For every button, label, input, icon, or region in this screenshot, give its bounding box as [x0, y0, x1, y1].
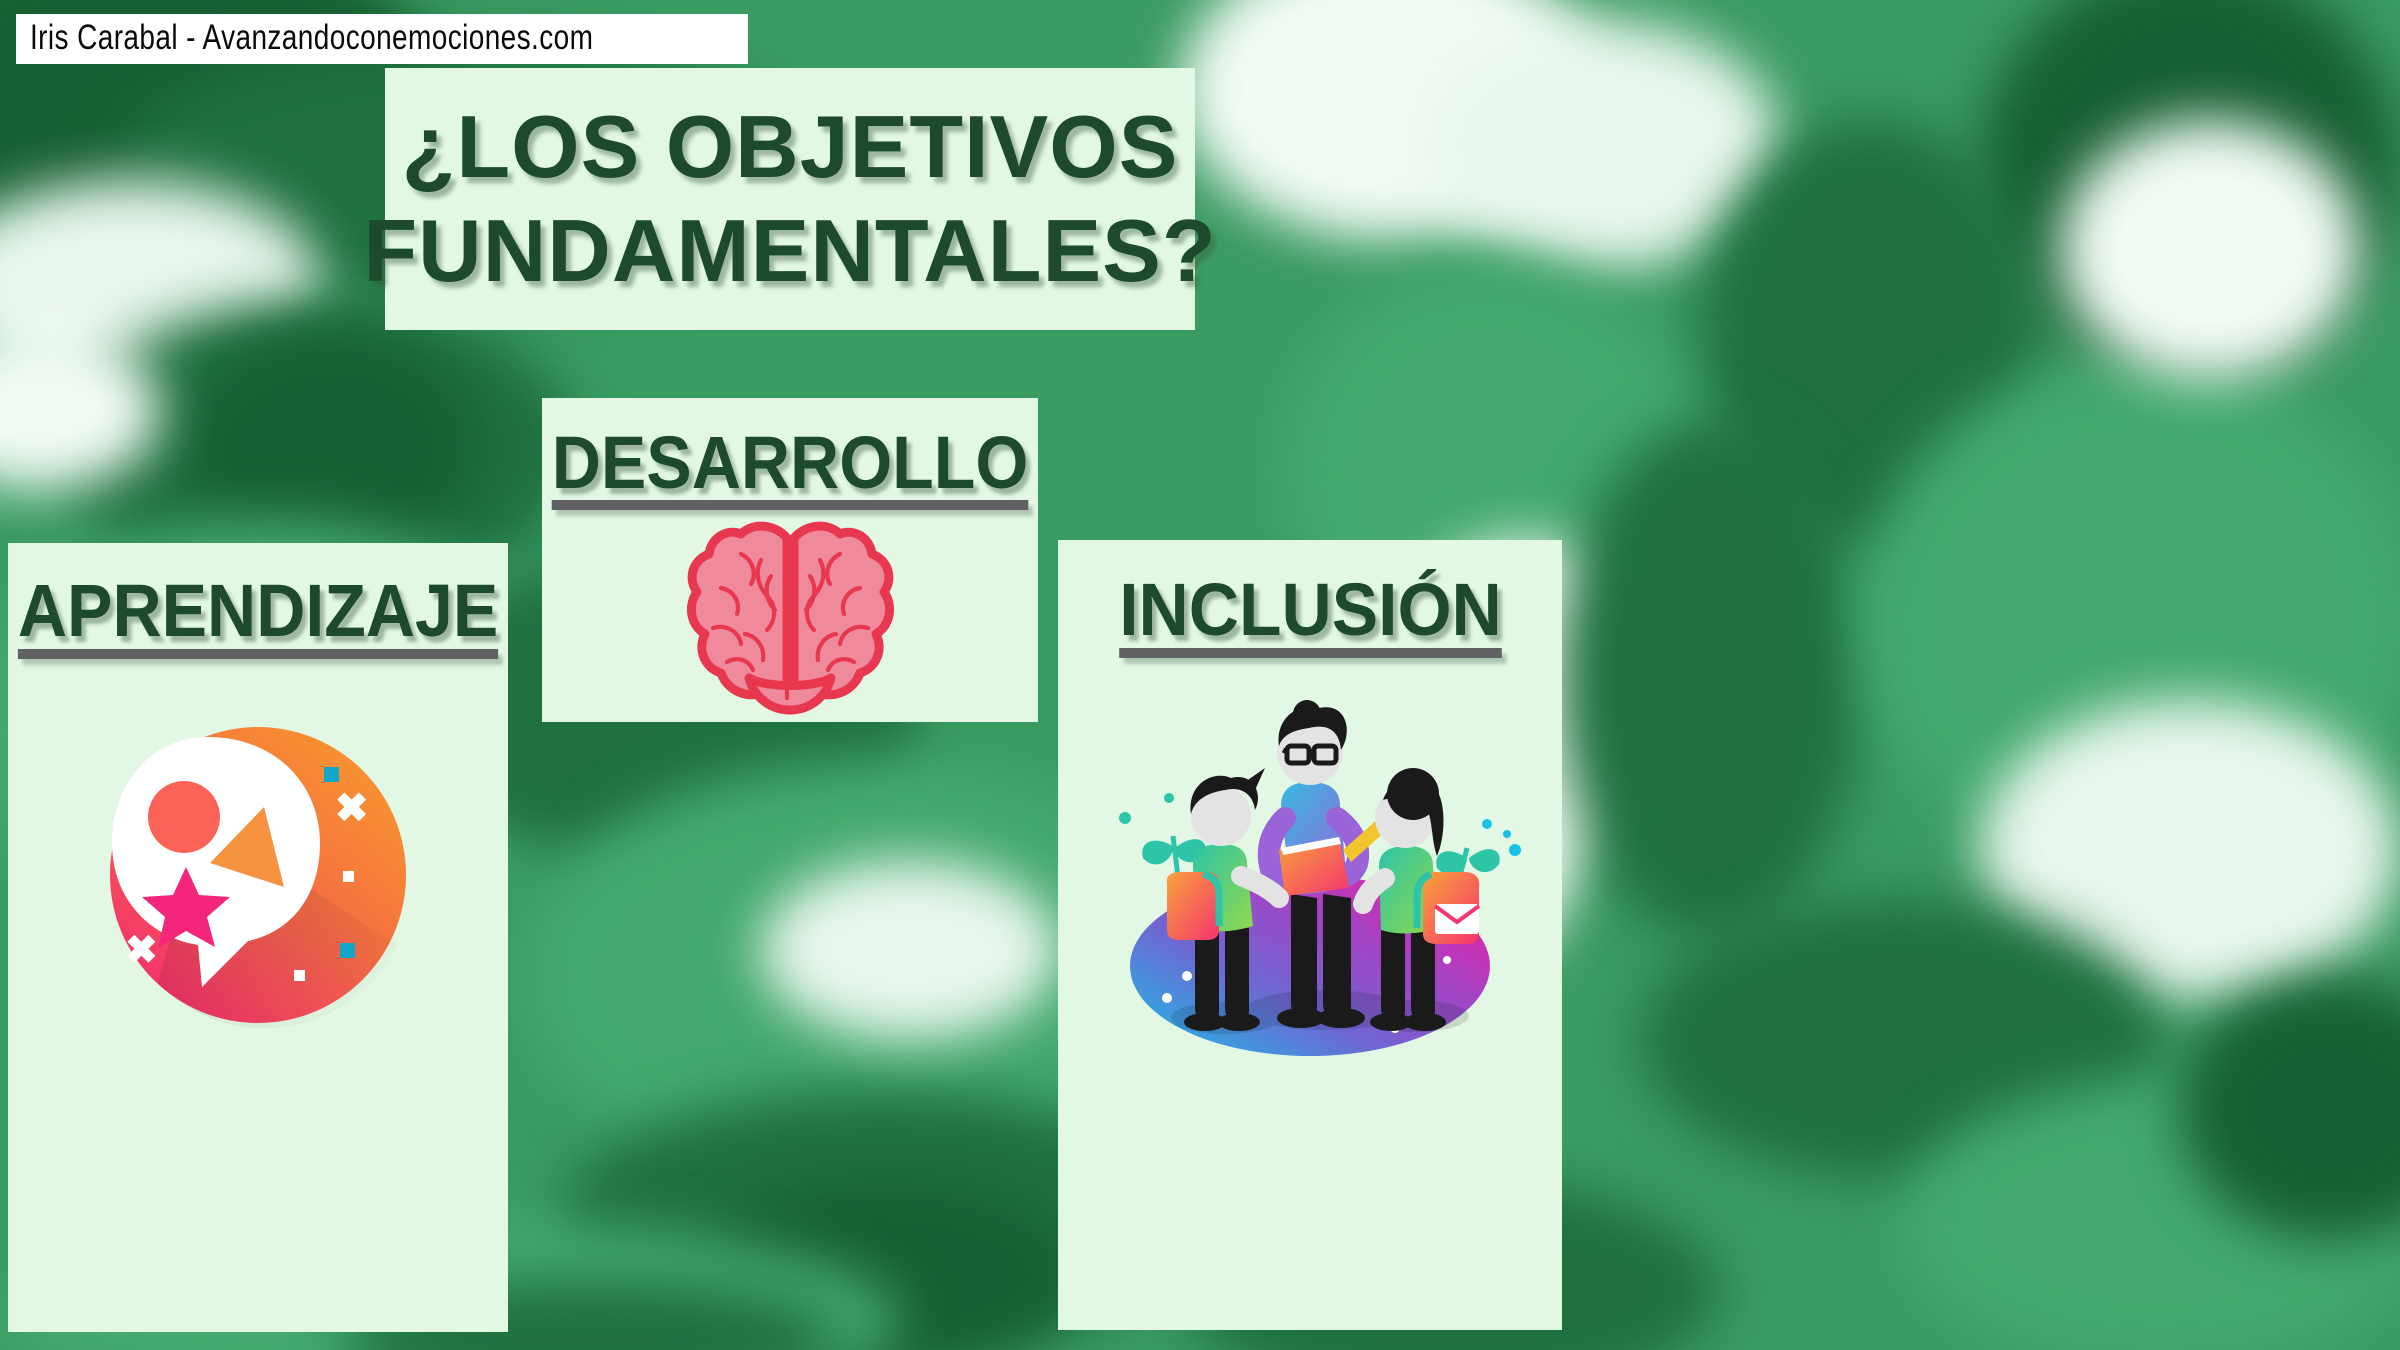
- watermark-badge: Iris Carabal - Avanzandoconemociones.com: [16, 14, 748, 64]
- brain-icon: [683, 516, 898, 716]
- page-title-line-2: FUNDAMENTALES?: [363, 199, 1216, 303]
- card-desarrollo-heading: DESARROLLO: [552, 422, 1029, 510]
- card-inclusion-heading: INCLUSIÓN: [1119, 568, 1502, 658]
- card-aprendizaje-heading: APRENDIZAJE: [18, 569, 498, 659]
- card-inclusion[interactable]: INCLUSIÓN: [1058, 540, 1562, 1330]
- card-aprendizaje[interactable]: APRENDIZAJE: [8, 543, 508, 1332]
- title-panel: ¿LOS OBJETIVOS FUNDAMENTALES?: [385, 68, 1195, 330]
- learning-bubble-icon: [98, 715, 418, 1035]
- inclusive-students-icon: [1095, 698, 1525, 1058]
- page-title-line-1: ¿LOS OBJETIVOS: [402, 95, 1179, 199]
- watermark-text: Iris Carabal - Avanzandoconemociones.com: [30, 20, 593, 56]
- card-desarrollo[interactable]: DESARROLLO: [542, 398, 1038, 722]
- poster-canvas: Iris Carabal - Avanzandoconemociones.com…: [0, 0, 2400, 1350]
